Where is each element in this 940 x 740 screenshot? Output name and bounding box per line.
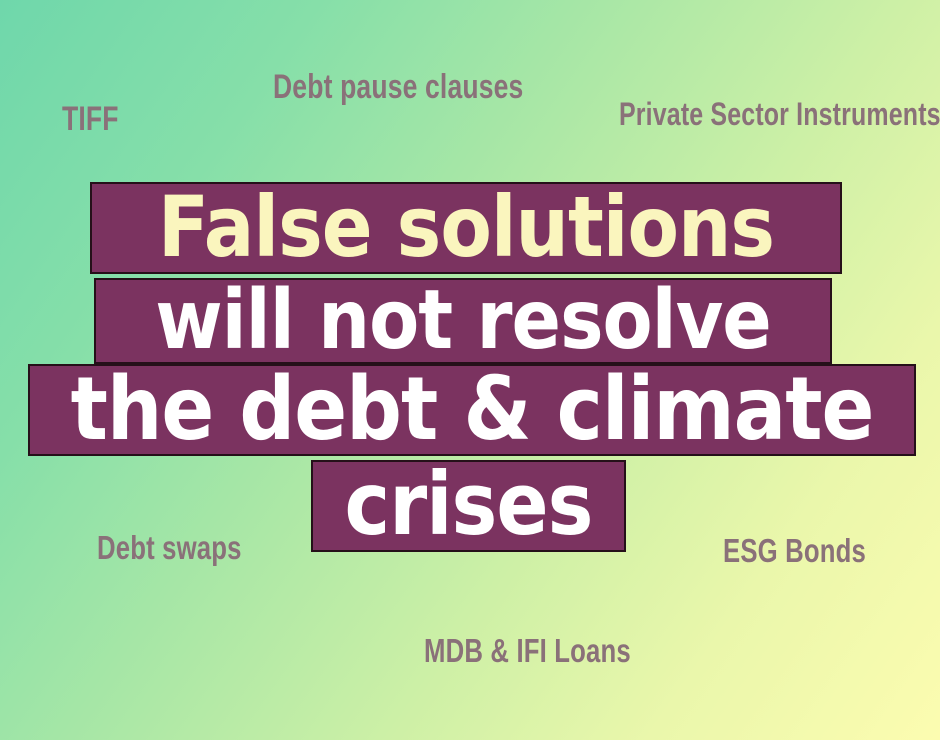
headline-line-4: crises <box>311 460 626 552</box>
headline-line-4-text: crises <box>345 465 593 547</box>
headline-block: False solutions will not resolve the deb… <box>0 0 940 740</box>
headline-line-3-text: the debt & climate <box>71 369 874 452</box>
headline-line-2: will not resolve <box>94 278 832 364</box>
headline-line-1-text: False solutions <box>158 188 774 268</box>
poster-canvas: TIFF Debt pause clauses Private Sector I… <box>0 0 940 740</box>
headline-line-3: the debt & climate <box>28 364 916 456</box>
headline-line-1: False solutions <box>90 182 842 274</box>
headline-line-2-text: will not resolve <box>155 282 771 360</box>
